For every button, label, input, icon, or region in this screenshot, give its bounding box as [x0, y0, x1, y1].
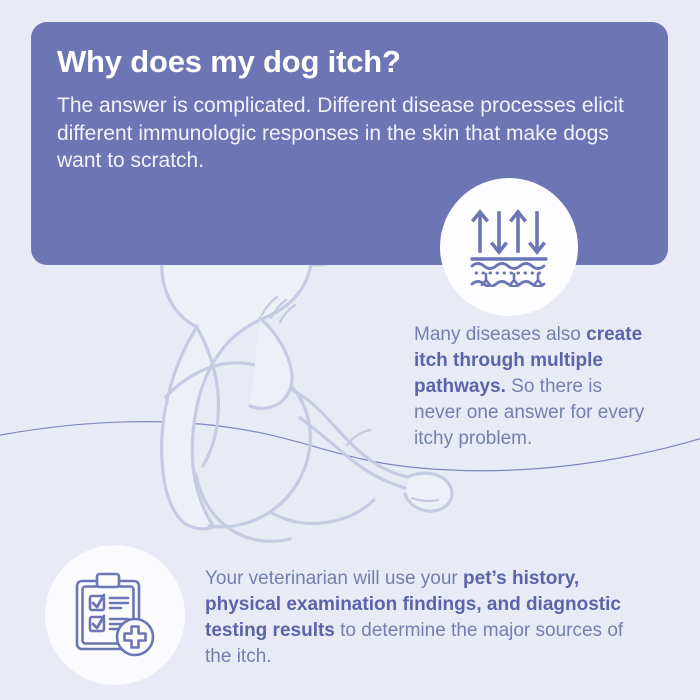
skin-layers-badge: [440, 178, 578, 316]
skin-layers-arrows-icon: [470, 207, 548, 287]
copy-segment-plain: Your veterinarian will use your: [205, 568, 463, 589]
page-title: Why does my dog itch?: [57, 44, 642, 80]
copy-block-multiple-pathways: Many diseases also create itch through m…: [414, 322, 650, 452]
infographic-canvas: Why does my dog itch? The answer is comp…: [0, 0, 700, 700]
medical-clipboard-checklist-icon: [73, 571, 157, 659]
copy-block-veterinarian-diagnosis: Your veterinarian will use your pet’s hi…: [205, 566, 643, 670]
clipboard-checklist-badge: [45, 545, 185, 685]
copy-segment-plain: Many diseases also: [414, 324, 586, 345]
header-description: The answer is complicated. Different dis…: [57, 92, 642, 176]
